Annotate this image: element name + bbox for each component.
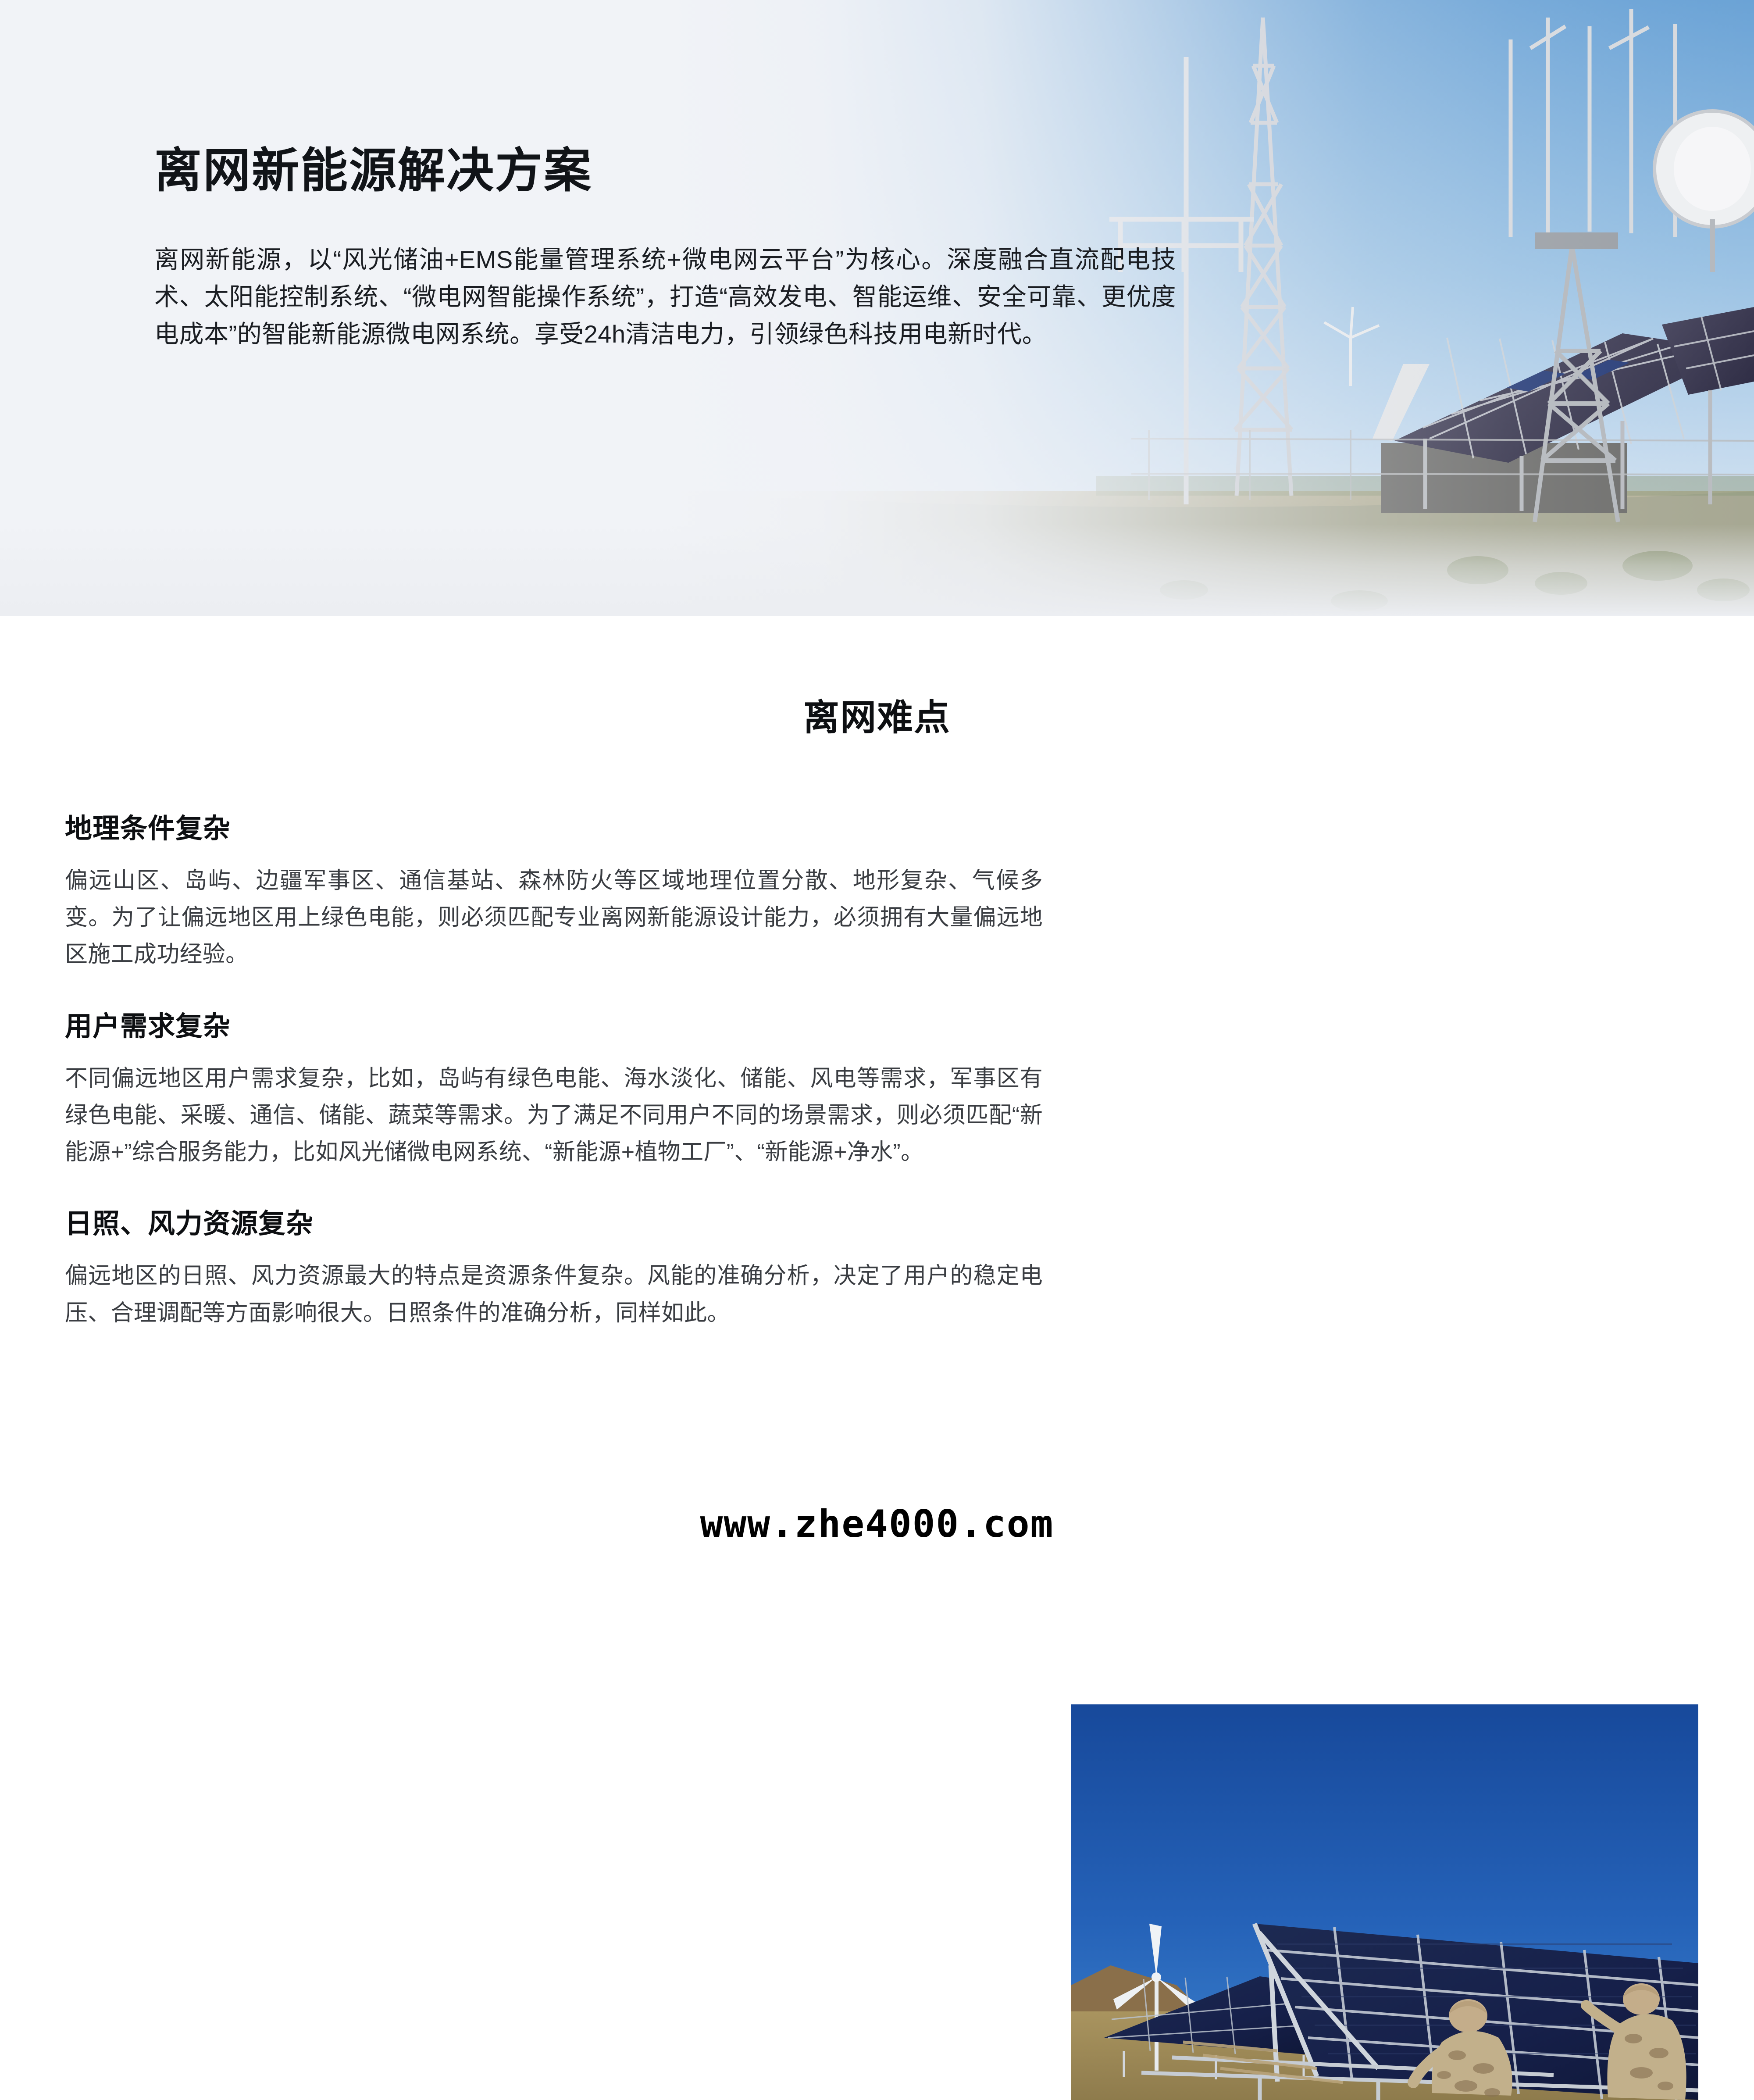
page-title: 离网新能源解决方案 bbox=[154, 145, 1216, 197]
website-url[interactable]: www.zhe4000.com bbox=[700, 1502, 1054, 1546]
difficulties-text-column: 地理条件复杂 偏远山区、岛屿、边疆军事区、通信基站、森林防火等区域地理位置分散、… bbox=[65, 806, 1043, 1332]
main-content: 离网难点 地理条件复杂 偏远山区、岛屿、边疆军事区、通信基站、森林防火等区域地理… bbox=[0, 616, 1754, 1332]
difficulty-block-geography: 地理条件复杂 偏远山区、岛屿、边疆军事区、通信基站、森林防火等区域地理位置分散、… bbox=[65, 806, 1043, 973]
difficulty-body: 偏远山区、岛屿、边疆军事区、通信基站、森林防火等区域地理位置分散、地形复杂、气候… bbox=[65, 862, 1043, 973]
hero-banner: 离网新能源解决方案 离网新能源，以“风光储油+EMS能量管理系统+微电网云平台”… bbox=[0, 0, 1754, 616]
difficulty-title: 用户需求复杂 bbox=[65, 1004, 1043, 1043]
hero-description: 离网新能源，以“风光储油+EMS能量管理系统+微电网云平台”为核心。深度融合直流… bbox=[154, 241, 1176, 353]
difficulty-block-solar-wind-resource: 日照、风力资源复杂 偏远地区的日照、风力资源最大的特点是资源条件复杂。风能的准确… bbox=[65, 1201, 1043, 1331]
section-title-difficulties: 离网难点 bbox=[0, 688, 1754, 740]
difficulty-body: 不同偏远地区用户需求复杂，比如，岛屿有绿色电能、海水淡化、储能、风电等需求，军事… bbox=[65, 1060, 1043, 1171]
hero-text-container: 离网新能源解决方案 离网新能源，以“风光储油+EMS能量管理系统+微电网云平台”… bbox=[154, 145, 1216, 353]
footer: www.zhe4000.com bbox=[0, 1502, 1754, 1546]
difficulty-title: 地理条件复杂 bbox=[65, 806, 1043, 846]
difficulty-block-user-demand: 用户需求复杂 不同偏远地区用户需求复杂，比如，岛屿有绿色电能、海水淡化、储能、风… bbox=[65, 1004, 1043, 1171]
solar-installation-photo bbox=[1071, 1704, 1698, 2100]
difficulty-title: 日照、风力资源复杂 bbox=[65, 1201, 1043, 1241]
difficulty-body: 偏远地区的日照、风力资源最大的特点是资源条件复杂。风能的准确分析，决定了用户的稳… bbox=[65, 1257, 1043, 1331]
difficulties-content: 地理条件复杂 偏远山区、岛屿、边疆军事区、通信基站、森林防火等区域地理位置分散、… bbox=[0, 806, 1689, 1332]
